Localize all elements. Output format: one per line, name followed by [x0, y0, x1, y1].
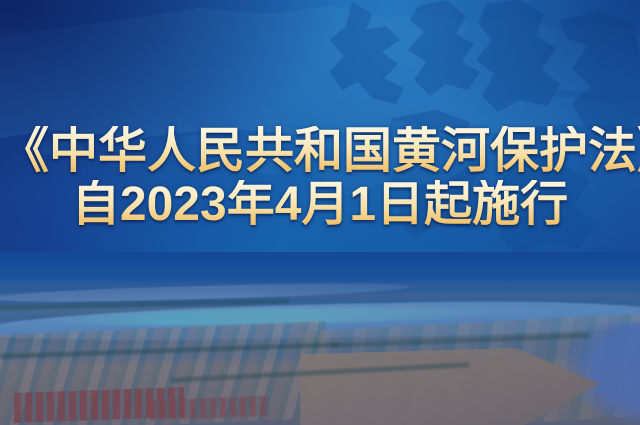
headline-block: 《中华人民共和国黄河保护法》 自2023年4月1日起施行: [0, 126, 640, 231]
aerial-river-photograph: [0, 252, 640, 425]
photo-sky-blend-overlay: [0, 252, 640, 425]
poster-canvas: 《中华人民共和国黄河保护法》 自2023年4月1日起施行: [0, 0, 640, 425]
headline-line-1: 《中华人民共和国黄河保护法》: [0, 126, 640, 178]
headline-line-2: 自2023年4月1日起施行: [0, 180, 640, 231]
